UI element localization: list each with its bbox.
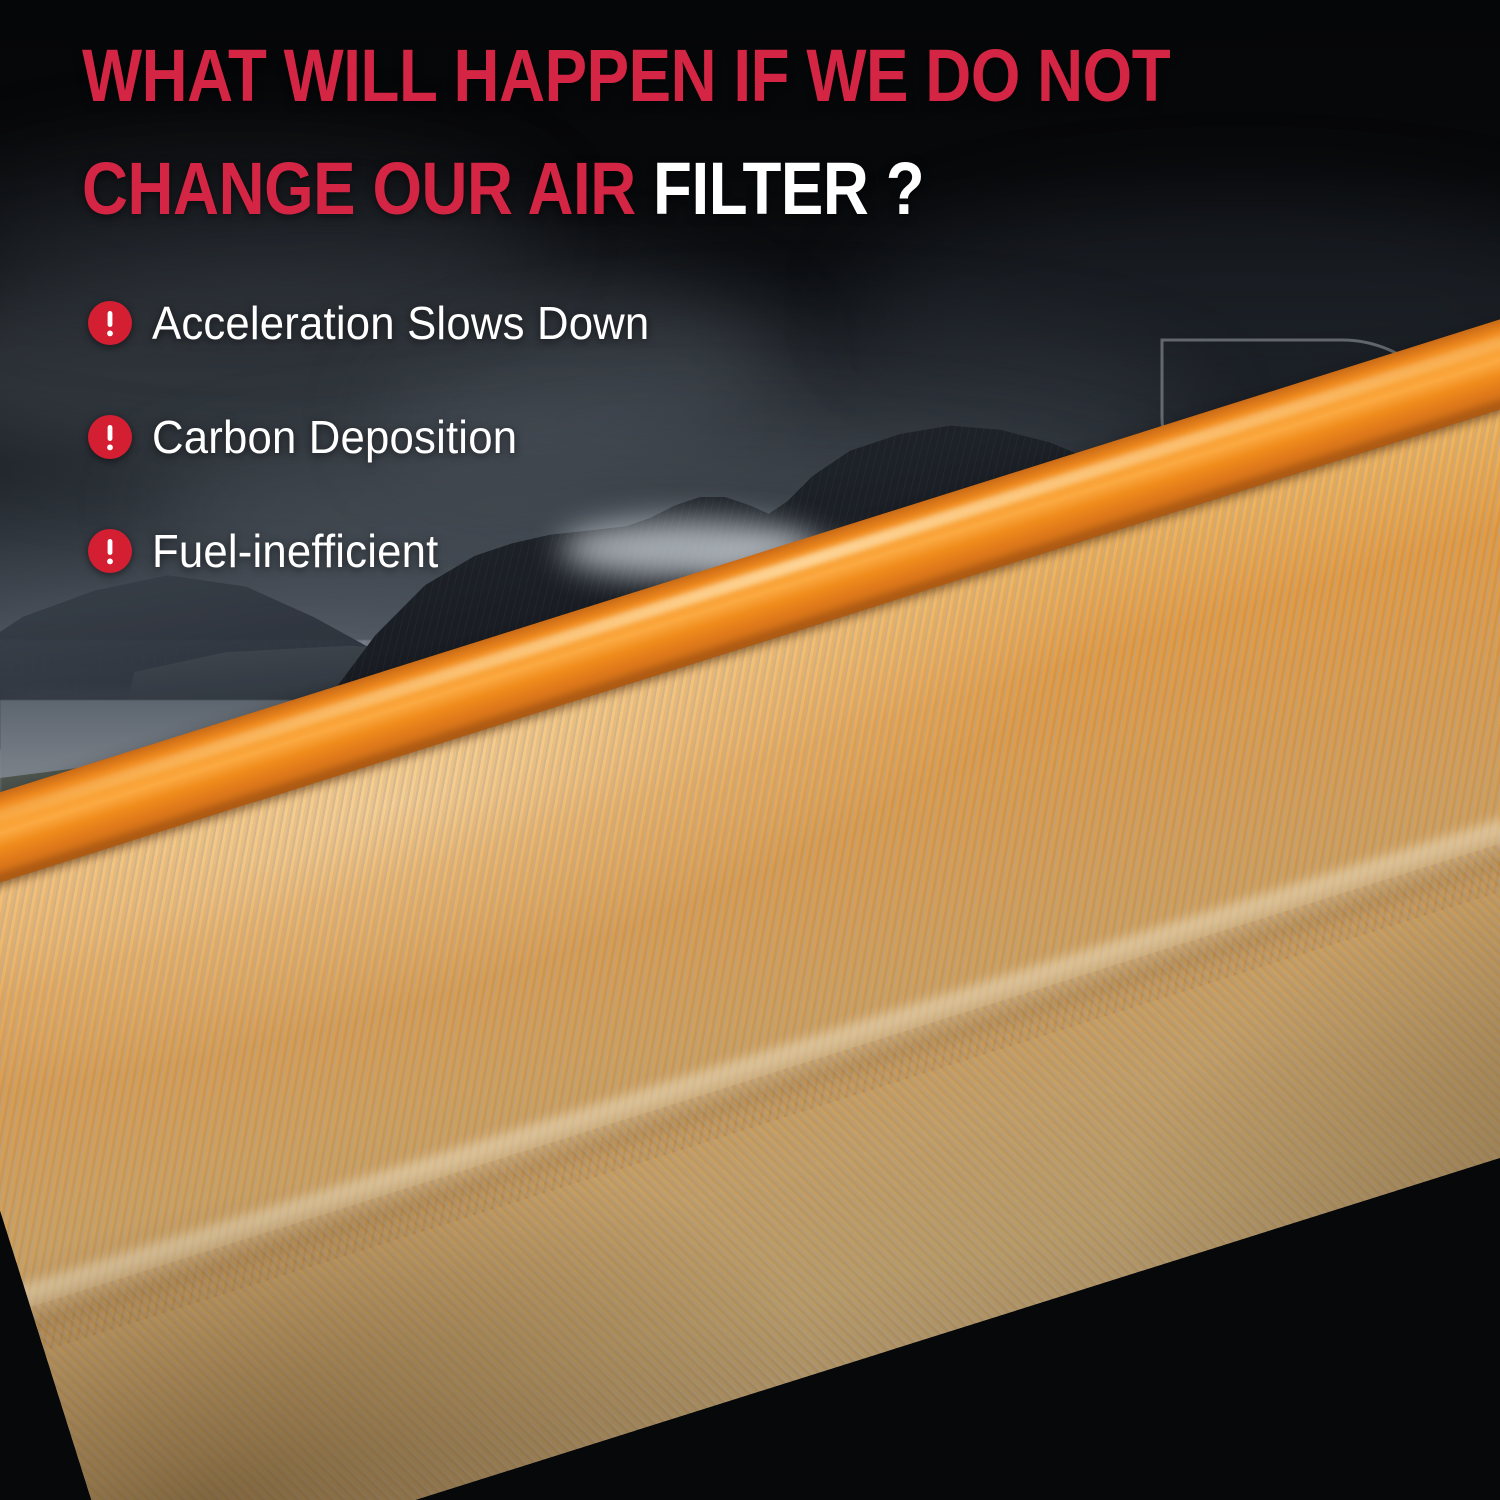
- poster-canvas: WHAT WILL HAPPEN IF WE DO NOT CHANGE OUR…: [0, 0, 1500, 1500]
- list-item-label: Carbon Deposition: [152, 414, 517, 460]
- list-item: Carbon Deposition: [88, 414, 988, 460]
- list-item: Fuel-inefficient: [88, 528, 988, 574]
- list-item-label: Fuel-inefficient: [152, 528, 438, 574]
- headline: WHAT WILL HAPPEN IF WE DO NOT CHANGE OUR…: [82, 40, 1200, 225]
- consequences-list: Acceleration Slows Down Carbon Depositio…: [88, 300, 988, 642]
- headline-line-2-red: CHANGE OUR AIR: [82, 147, 636, 230]
- exclamation-circle-icon: [88, 301, 132, 345]
- headline-line-1: WHAT WILL HAPPEN IF WE DO NOT: [82, 40, 1200, 113]
- exclamation-circle-icon: [88, 529, 132, 573]
- list-item-label: Acceleration Slows Down: [152, 300, 649, 346]
- exclamation-circle-icon: [88, 415, 132, 459]
- list-item: Acceleration Slows Down: [88, 300, 988, 346]
- headline-line-2: CHANGE OUR AIR FILTER ?: [82, 153, 1200, 226]
- headline-line-2-white: FILTER ?: [653, 147, 924, 230]
